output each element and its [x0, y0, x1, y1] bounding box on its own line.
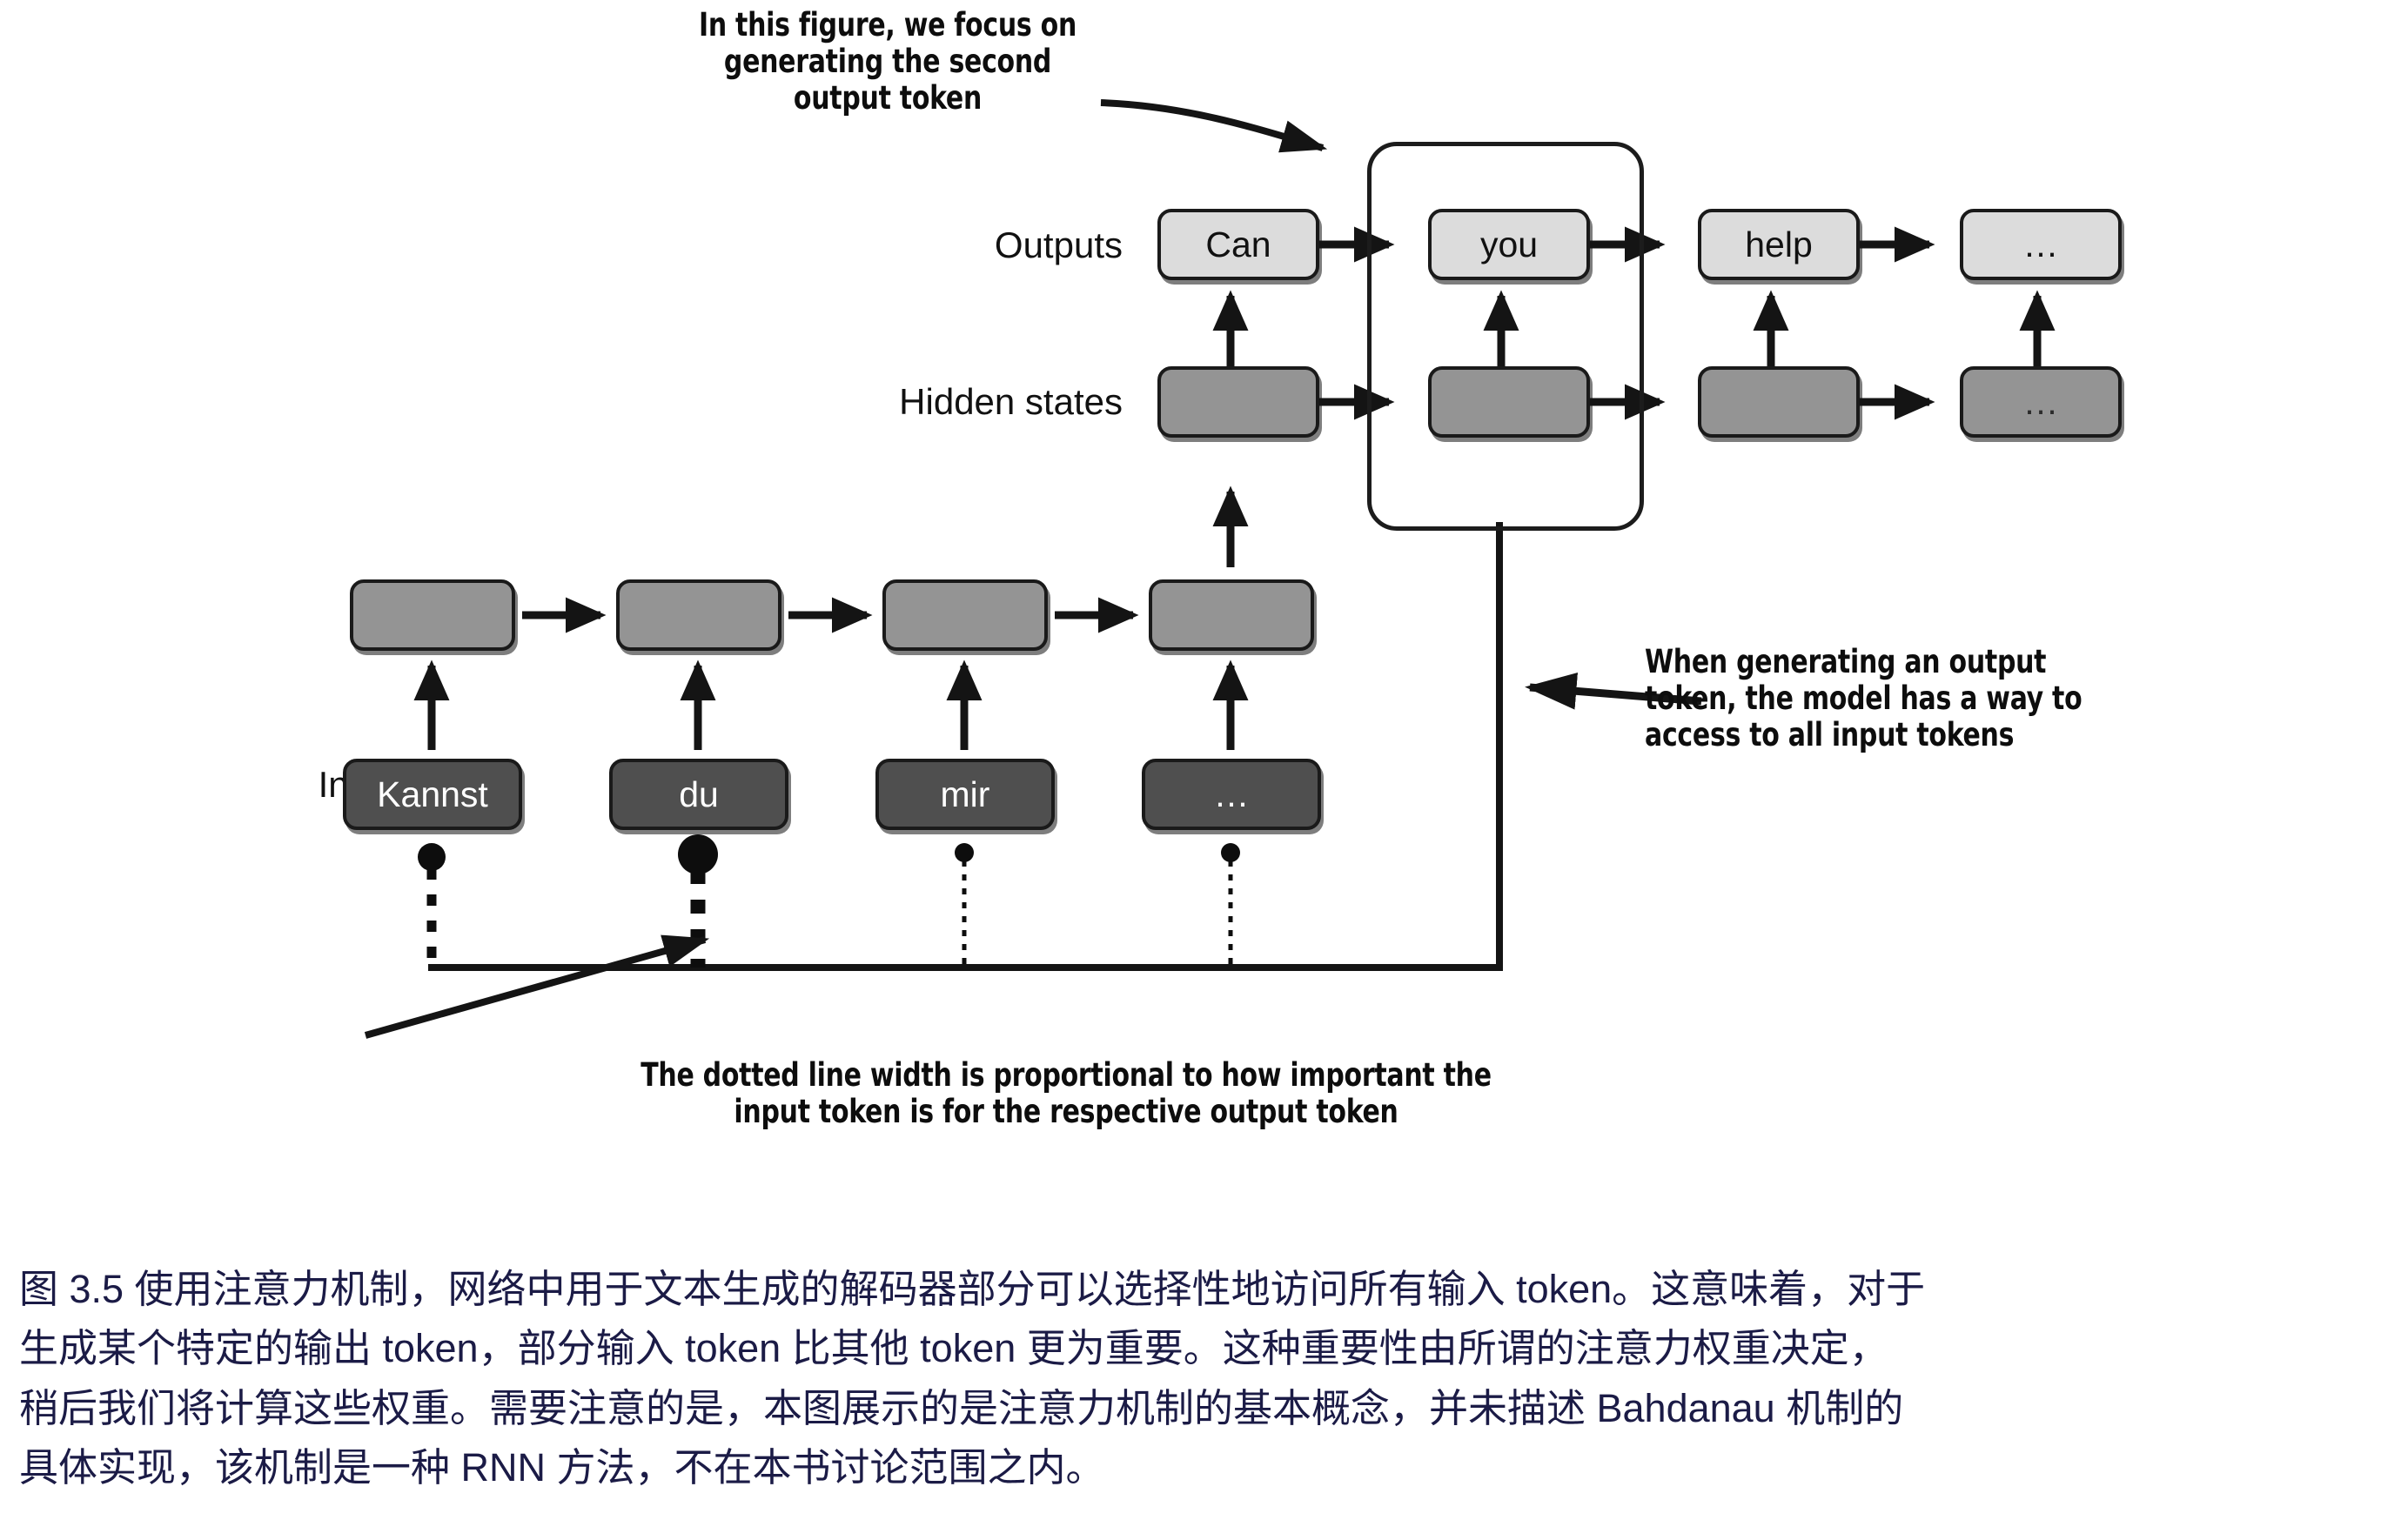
caption-line-4: 具体实现，该机制是一种 RNN 方法，不在本书讨论范围之内。: [19, 1438, 2369, 1497]
output-token-box-1[interactable]: Can: [1157, 209, 1319, 280]
encoder-state-box-3[interactable]: [882, 579, 1048, 651]
caption-line-1: 图 3.5 使用注意力机制，网络中用于文本生成的解码器部分可以选择性地访问所有输…: [19, 1260, 2369, 1319]
output-token-box-4[interactable]: …: [1960, 209, 2122, 280]
annotation-right: When generating an output token, the mod…: [1645, 644, 2209, 754]
decoder-focus-frame: [1367, 142, 1644, 531]
hidden-state-box-2[interactable]: [1428, 366, 1590, 438]
input-token-box-4[interactable]: …: [1142, 759, 1321, 830]
encoder-state-box-1[interactable]: [350, 579, 515, 651]
output-token-box-3[interactable]: help: [1698, 209, 1860, 280]
annotation-top: In this figure, we focus on generating t…: [637, 7, 1138, 117]
encoder-state-box-4[interactable]: [1149, 579, 1314, 651]
hidden-state-box-4[interactable]: …: [1960, 366, 2122, 438]
caption-line-2: 生成某个特定的输出 token，部分输入 token 比其他 token 更为重…: [19, 1319, 2369, 1378]
row-label-hidden-states: Hidden states: [522, 381, 1123, 423]
row-label-outputs: Outputs: [644, 224, 1123, 266]
hidden-state-box-1[interactable]: [1157, 366, 1319, 438]
output-token-box-2[interactable]: you: [1428, 209, 1590, 280]
figure-attention-diagram: Outputs Hidden states Inputs Can you hel…: [0, 0, 2381, 1218]
input-token-box-3[interactable]: mir: [875, 759, 1055, 830]
encoder-state-box-2[interactable]: [616, 579, 781, 651]
input-token-box-2[interactable]: du: [609, 759, 788, 830]
annotation-bottom: The dotted line width is proportional to…: [546, 1057, 1587, 1130]
figure-caption: 图 3.5 使用注意力机制，网络中用于文本生成的解码器部分可以选择性地访问所有输…: [19, 1260, 2369, 1498]
hidden-state-box-3[interactable]: [1698, 366, 1860, 438]
caption-line-3: 稍后我们将计算这些权重。需要注意的是，本图展示的是注意力机制的基本概念，并未描述…: [19, 1379, 2369, 1438]
input-token-box-1[interactable]: Kannst: [343, 759, 522, 830]
